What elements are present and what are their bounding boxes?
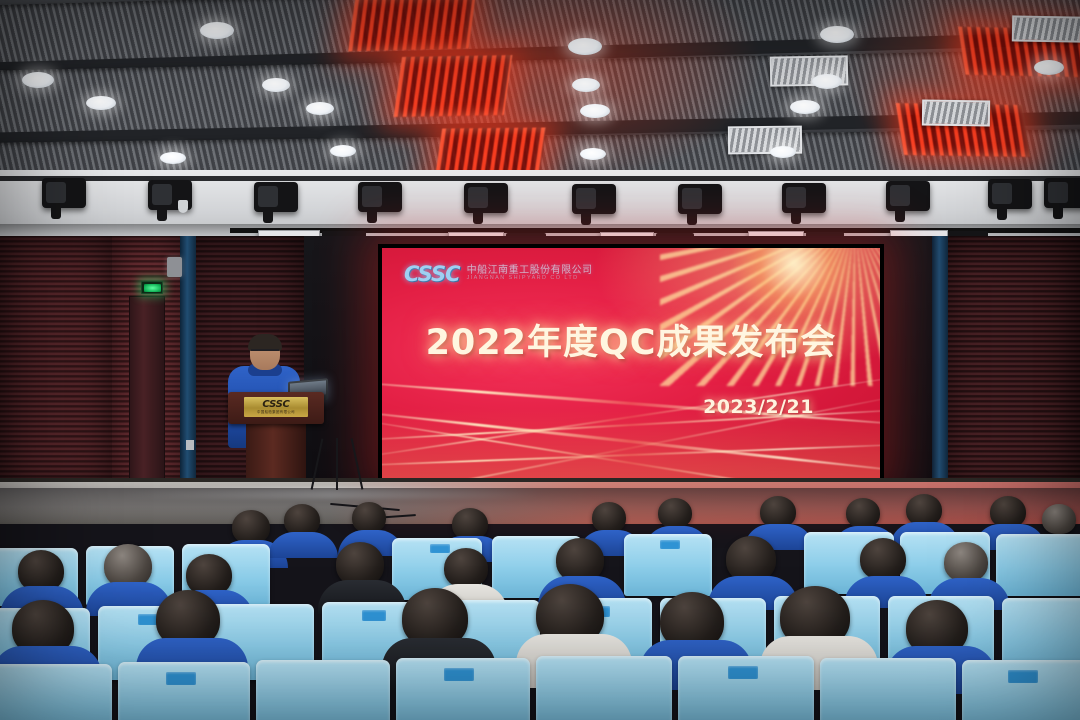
stage-spotlight-icon xyxy=(254,182,298,212)
podium: CSSC 中国船舶集团有限公司 xyxy=(228,392,324,484)
podium-body xyxy=(246,422,306,484)
exit-icon xyxy=(141,281,163,294)
blue-column-right xyxy=(932,236,948,490)
blue-column-left xyxy=(180,236,196,490)
side-door[interactable] xyxy=(129,296,165,486)
audience-head xyxy=(352,502,386,533)
ceiling-downlight-icon xyxy=(1034,60,1064,75)
audience-seating xyxy=(0,488,1080,720)
audience-shoulders xyxy=(268,532,338,558)
podium-logo-sub: 中国船舶集团有限公司 xyxy=(257,411,295,414)
conference-hall-photo: CSSC 中船江南重工股份有限公司 JIANGNAN SHIPYARD CO L… xyxy=(0,0,1080,720)
ceiling-downlight-icon xyxy=(22,72,54,88)
seat-number-tag xyxy=(1008,670,1038,683)
ceiling-downlight-icon xyxy=(86,96,116,110)
cssc-logo-en: JIANGNAN SHIPYARD CO LTD xyxy=(467,276,593,282)
ceiling-downlight-icon xyxy=(262,78,290,92)
ceiling xyxy=(0,0,1080,178)
ceiling-downlight-icon xyxy=(580,104,610,118)
stage-spotlight-icon xyxy=(678,184,722,214)
stage-spotlight-icon xyxy=(572,184,616,214)
audience-head xyxy=(944,542,988,582)
auditorium-seat[interactable] xyxy=(118,662,250,720)
exit-icon-glow xyxy=(144,284,161,292)
stage-spotlight-icon xyxy=(1044,178,1080,208)
ceiling-downlight-icon xyxy=(572,78,600,92)
auditorium-seat[interactable] xyxy=(0,664,112,720)
audience-head xyxy=(860,538,906,580)
auditorium-seat[interactable] xyxy=(996,534,1080,596)
seat-number-tag xyxy=(444,668,474,681)
red-light-slot xyxy=(348,0,476,51)
stage-spotlight-icon xyxy=(42,178,86,208)
air-vent-icon xyxy=(1012,15,1080,42)
ceiling-downlight-icon xyxy=(200,22,234,39)
cssc-logo-mark: CSSC xyxy=(404,262,460,286)
stage-spotlight-icon xyxy=(988,179,1032,209)
auditorium-seat[interactable] xyxy=(962,660,1080,720)
camera-tripod xyxy=(316,438,360,490)
red-light-slot xyxy=(394,55,513,117)
ceiling-downlight-icon xyxy=(820,26,854,43)
podium-nameplate: CSSC 中国船舶集团有限公司 xyxy=(244,397,308,417)
ceiling-downlight-icon xyxy=(812,74,842,89)
audience-head xyxy=(658,498,692,528)
seat-number-tag xyxy=(660,540,680,549)
tripod-leg xyxy=(336,438,338,490)
wood-slat-wall-right xyxy=(944,236,1080,490)
wood-slat-wall-left xyxy=(0,236,112,490)
audience-head xyxy=(444,548,488,588)
seat-number-tag xyxy=(728,666,758,679)
ceiling-downlight-icon xyxy=(330,145,356,157)
auditorium-seat[interactable] xyxy=(256,660,390,720)
screen-company-logo: CSSC 中船江南重工股份有限公司 JIANGNAN SHIPYARD CO L… xyxy=(404,262,593,286)
security-camera-icon xyxy=(178,200,188,213)
ceiling-downlight-icon xyxy=(568,38,602,55)
audience-head xyxy=(846,498,880,528)
audience-head xyxy=(232,510,270,544)
wall-socket xyxy=(186,440,194,450)
air-vent-icon xyxy=(922,100,990,127)
ceiling-downlight-icon xyxy=(790,100,820,114)
ceiling-downlight-icon xyxy=(160,152,186,164)
ceiling-downlight-icon xyxy=(770,146,796,158)
speaker-glasses xyxy=(251,349,279,356)
auditorium-seat[interactable] xyxy=(536,656,672,720)
ceiling-downlight-icon xyxy=(306,102,334,115)
presentation-title: 2022年度QC成果发布会 xyxy=(382,314,880,365)
seat-number-tag xyxy=(362,610,386,621)
podium-logo-mark: CSSC xyxy=(262,400,289,410)
audience-head xyxy=(1042,504,1076,534)
ceiling-downlight-icon xyxy=(580,148,606,160)
wall-mounted-box xyxy=(167,257,182,277)
stage-spotlight-icon xyxy=(358,182,402,212)
led-screen: CSSC 中船江南重工股份有限公司 JIANGNAN SHIPYARD CO L… xyxy=(382,248,880,478)
seat-number-tag xyxy=(430,544,450,553)
cssc-logo-text: 中船江南重工股份有限公司 JIANGNAN SHIPYARD CO LTD xyxy=(467,266,593,282)
presentation-date: 2023/2/21 xyxy=(703,396,814,418)
stage-spotlight-icon xyxy=(782,183,826,213)
stage-spotlight-icon xyxy=(464,183,508,213)
audience-head xyxy=(592,502,626,533)
stage-spotlight-icon xyxy=(886,181,930,211)
seat-number-tag xyxy=(166,672,196,685)
auditorium-seat[interactable] xyxy=(820,658,956,720)
